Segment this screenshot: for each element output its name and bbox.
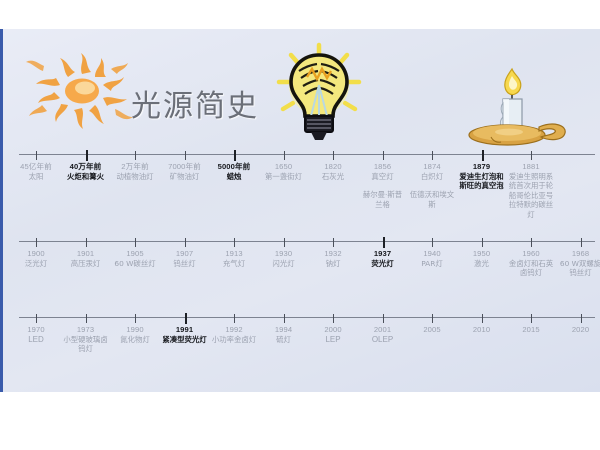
- event-label: 白炽灯: [409, 172, 455, 182]
- timeline-event[interactable]: 1992小功率金卤灯: [211, 325, 257, 344]
- event-label: 小功率金卤灯: [211, 335, 257, 345]
- timeline-event[interactable]: 1650第一盏街灯: [261, 162, 307, 181]
- timeline-row-2: 1900泛光灯1901高压汞灯190560 W碳丝灯1907钨丝灯1913充气灯…: [3, 241, 600, 311]
- event-label: 闪光灯: [261, 259, 307, 269]
- event-label: 太阳: [13, 172, 59, 182]
- timeline-event[interactable]: 1820石灰光: [310, 162, 356, 181]
- event-label: 小型硬玻璃卤钨灯: [63, 335, 109, 354]
- event-label: 金卤灯和石英卤钨灯: [508, 259, 554, 278]
- event-label: 60 W碳丝灯: [112, 259, 158, 269]
- event-label: 动植物油灯: [112, 172, 158, 182]
- timeline-event[interactable]: 40万年前火炬和篝火: [63, 162, 109, 181]
- event-year: 1874: [409, 162, 455, 172]
- timeline-tick: [86, 238, 87, 247]
- event-label: 钠灯: [310, 259, 356, 269]
- timeline-event[interactable]: 1856真空灯赫尔曼·斯普兰格: [360, 162, 406, 209]
- timeline-event[interactable]: 2010: [459, 325, 505, 335]
- timeline-tick: [383, 314, 384, 323]
- event-label: 石灰光: [310, 172, 356, 182]
- candle-illustration: [441, 59, 571, 151]
- event-year: 1950: [459, 249, 505, 259]
- event-year: 1879: [459, 162, 505, 172]
- timeline-axis: [19, 241, 595, 242]
- timeline-event[interactable]: 1901高压汞灯: [63, 249, 109, 268]
- event-year: 1994: [261, 325, 307, 335]
- timeline-tick: [185, 238, 186, 247]
- timeline-tick: [234, 238, 235, 247]
- event-year: 1901: [63, 249, 109, 259]
- event-label: 真空灯: [360, 172, 406, 182]
- timeline-tick: [36, 314, 37, 323]
- timeline-tick: [135, 151, 136, 160]
- timeline-axis: [19, 154, 595, 155]
- timeline-event[interactable]: 45亿年前太阳: [13, 162, 59, 181]
- event-year: 1990: [112, 325, 158, 335]
- timeline-tick: [432, 238, 433, 247]
- timeline-event[interactable]: 1900泛光灯: [13, 249, 59, 268]
- event-year: 1650: [261, 162, 307, 172]
- timeline-tick: [36, 151, 37, 160]
- timeline-row-1: 45亿年前太阳40万年前火炬和篝火2万年前动植物油灯7000年前矿物油灯5000…: [3, 154, 600, 224]
- slide-canvas: 光源简史: [0, 29, 600, 392]
- event-year: 1881: [508, 162, 554, 172]
- timeline-event[interactable]: 1940PAR灯: [409, 249, 455, 268]
- timeline-tick: [333, 314, 334, 323]
- event-year: 2001: [360, 325, 406, 335]
- timeline-tick: [284, 151, 285, 160]
- timeline-tick: [432, 314, 433, 323]
- timeline-event[interactable]: 1991紧凑型荧光灯: [162, 325, 208, 344]
- event-year: 1856: [360, 162, 406, 172]
- event-year: 2015: [508, 325, 554, 335]
- timeline-tick: [581, 314, 582, 323]
- timeline-event[interactable]: 2020: [558, 325, 600, 335]
- timeline-event[interactable]: 196860 W双螺旋钨丝灯: [558, 249, 600, 278]
- timeline-event[interactable]: 1990氮化物灯: [112, 325, 158, 344]
- timeline-row-3: 1970LED1973小型硬玻璃卤钨灯1990氮化物灯1991紧凑型荧光灯199…: [3, 317, 600, 387]
- timeline-tick: [531, 238, 532, 247]
- timeline-tick: [86, 150, 88, 161]
- event-label: LEP: [310, 335, 356, 345]
- sun-illustration: [23, 41, 141, 141]
- event-year: 1960: [508, 249, 554, 259]
- timeline-event[interactable]: 1907钨丝灯: [162, 249, 208, 268]
- timeline-tick: [482, 314, 483, 323]
- event-label: 第一盏街灯: [261, 172, 307, 182]
- event-label: 激光: [459, 259, 505, 269]
- event-label: 紧凑型荧光灯: [162, 335, 208, 345]
- event-sublabel: 赫尔曼·斯普兰格: [360, 190, 406, 209]
- timeline-event[interactable]: 7000年前矿物油灯: [162, 162, 208, 181]
- event-label: 氮化物灯: [112, 335, 158, 345]
- timeline-event[interactable]: 1879爱迪生灯泡和斯旺的真空泡: [459, 162, 505, 191]
- event-label: 火炬和篝火: [63, 172, 109, 182]
- timeline-event[interactable]: 1874白炽灯伍德沃和埃文斯: [409, 162, 455, 209]
- event-year: 1900: [13, 249, 59, 259]
- timeline-event[interactable]: 2001OLEP: [360, 325, 406, 344]
- event-label: 爱迪生灯泡和斯旺的真空泡: [459, 172, 505, 191]
- timeline-event[interactable]: 1881爱迪生照明系统首次用于轮船哥伦比亚号拉特默的碳丝灯: [508, 162, 554, 219]
- event-year: 1820: [310, 162, 356, 172]
- timeline-tick: [185, 151, 186, 160]
- event-year: 45亿年前: [13, 162, 59, 172]
- event-year: 5000年前: [211, 162, 257, 172]
- timeline-event[interactable]: 1970LED: [13, 325, 59, 344]
- event-year: 1970: [13, 325, 59, 335]
- timeline-tick: [482, 238, 483, 247]
- event-sublabel: 伍德沃和埃文斯: [409, 190, 455, 209]
- event-label: LED: [13, 335, 59, 345]
- timeline-tick: [482, 150, 484, 161]
- event-label: 泛光灯: [13, 259, 59, 269]
- event-year: 2010: [459, 325, 505, 335]
- event-year: 2020: [558, 325, 600, 335]
- timeline-event[interactable]: 1973小型硬玻璃卤钨灯: [63, 325, 109, 354]
- event-year: 2万年前: [112, 162, 158, 172]
- event-year: 1905: [112, 249, 158, 259]
- event-year: 2000: [310, 325, 356, 335]
- timeline-tick: [432, 151, 433, 160]
- event-year: 40万年前: [63, 162, 109, 172]
- event-label: 蜡烛: [211, 172, 257, 182]
- event-label: 60 W双螺旋钨丝灯: [558, 259, 600, 278]
- timeline-event[interactable]: 190560 W碳丝灯: [112, 249, 158, 268]
- timeline-event[interactable]: 5000年前蜡烛: [211, 162, 257, 181]
- timeline-event[interactable]: 2015: [508, 325, 554, 335]
- event-label: 爱迪生照明系统首次用于轮船哥伦比亚号拉特默的碳丝灯: [508, 172, 554, 220]
- slide-header: 光源简史: [3, 29, 600, 144]
- event-year: 1968: [558, 249, 600, 259]
- timeline-event[interactable]: 1950激光: [459, 249, 505, 268]
- timeline-event[interactable]: 2万年前动植物油灯: [112, 162, 158, 181]
- event-year: 1973: [63, 325, 109, 335]
- timeline-tick: [284, 314, 285, 323]
- event-label: OLEP: [360, 335, 406, 345]
- timeline-tick: [185, 313, 187, 324]
- timeline-tick: [333, 238, 334, 247]
- timeline-tick: [383, 237, 385, 248]
- event-label: 高压汞灯: [63, 259, 109, 269]
- event-label: 硫灯: [261, 335, 307, 345]
- event-year: 1937: [360, 249, 406, 259]
- event-label: 矿物油灯: [162, 172, 208, 182]
- event-year: 1930: [261, 249, 307, 259]
- event-year: 1907: [162, 249, 208, 259]
- timeline-event[interactable]: 1994硫灯: [261, 325, 307, 344]
- timeline-event[interactable]: 2000LEP: [310, 325, 356, 344]
- timeline-event[interactable]: 1937荧光灯: [360, 249, 406, 268]
- timeline-event[interactable]: 1960金卤灯和石英卤钨灯: [508, 249, 554, 278]
- timeline-tick: [234, 314, 235, 323]
- timeline-axis: [19, 317, 595, 318]
- event-year: 1991: [162, 325, 208, 335]
- lightbulb-illustration: [261, 37, 377, 145]
- event-year: 2005: [409, 325, 455, 335]
- timeline-event[interactable]: 1930闪光灯: [261, 249, 307, 268]
- event-year: 1913: [211, 249, 257, 259]
- timeline-tick: [284, 238, 285, 247]
- timeline-event[interactable]: 1932钠灯: [310, 249, 356, 268]
- timeline-tick: [135, 238, 136, 247]
- event-year: 1992: [211, 325, 257, 335]
- event-year: 1932: [310, 249, 356, 259]
- event-label: 荧光灯: [360, 259, 406, 269]
- timeline-event[interactable]: 2005: [409, 325, 455, 335]
- timeline-tick: [36, 238, 37, 247]
- timeline-tick: [383, 151, 384, 160]
- timeline-tick: [531, 314, 532, 323]
- timeline-event[interactable]: 1913充气灯: [211, 249, 257, 268]
- event-year: 1940: [409, 249, 455, 259]
- event-label: 充气灯: [211, 259, 257, 269]
- event-label: PAR灯: [409, 259, 455, 269]
- timeline-tick: [333, 151, 334, 160]
- event-label: 钨丝灯: [162, 259, 208, 269]
- timeline-tick: [234, 150, 236, 161]
- event-year: 7000年前: [162, 162, 208, 172]
- timeline-tick: [86, 314, 87, 323]
- timeline-tick: [135, 314, 136, 323]
- timeline-tick: [531, 151, 532, 160]
- timeline-tick: [581, 238, 582, 247]
